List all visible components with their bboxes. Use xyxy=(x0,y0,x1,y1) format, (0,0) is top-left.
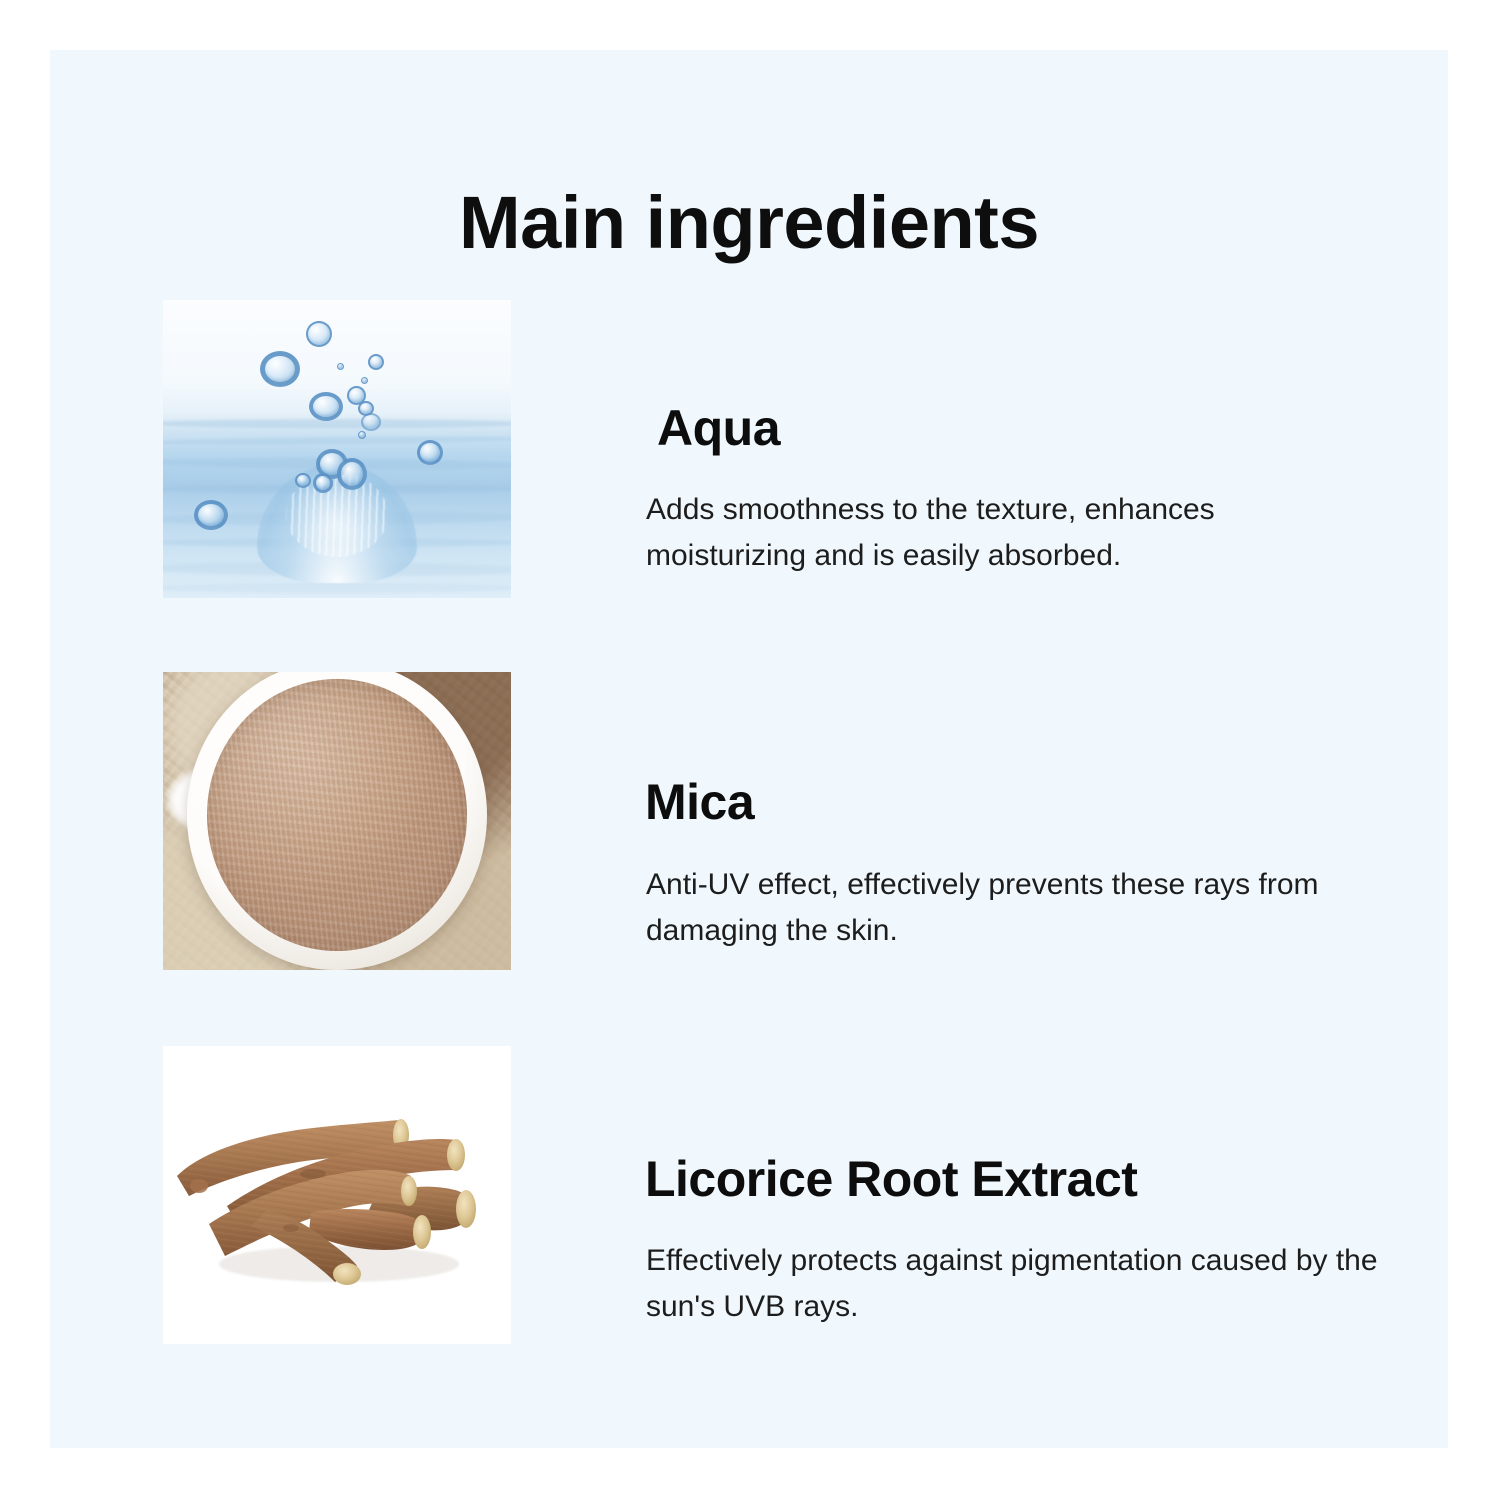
licorice-root-icon xyxy=(163,1046,511,1344)
ingredient-description-licorice: Effectively protects against pigmentatio… xyxy=(646,1238,1446,1329)
ingredient-image-aqua xyxy=(163,300,511,598)
ingredients-infographic: Main ingredients xyxy=(0,0,1500,1500)
water-splash-icon xyxy=(163,300,511,598)
mica-powder-icon xyxy=(163,672,511,970)
ingredient-image-mica xyxy=(163,672,511,970)
page-title: Main ingredients xyxy=(50,186,1448,260)
ingredient-name-mica: Mica xyxy=(645,777,754,827)
ingredient-description-aqua: Adds smoothness to the texture, enhances… xyxy=(646,487,1336,578)
ingredient-name-licorice: Licorice Root Extract xyxy=(645,1154,1137,1204)
ingredient-name-aqua: Aqua xyxy=(657,403,780,453)
ingredient-description-mica: Anti-UV effect, effectively prevents the… xyxy=(646,862,1436,953)
ingredient-image-licorice xyxy=(163,1046,511,1344)
content-panel: Main ingredients xyxy=(50,50,1448,1448)
